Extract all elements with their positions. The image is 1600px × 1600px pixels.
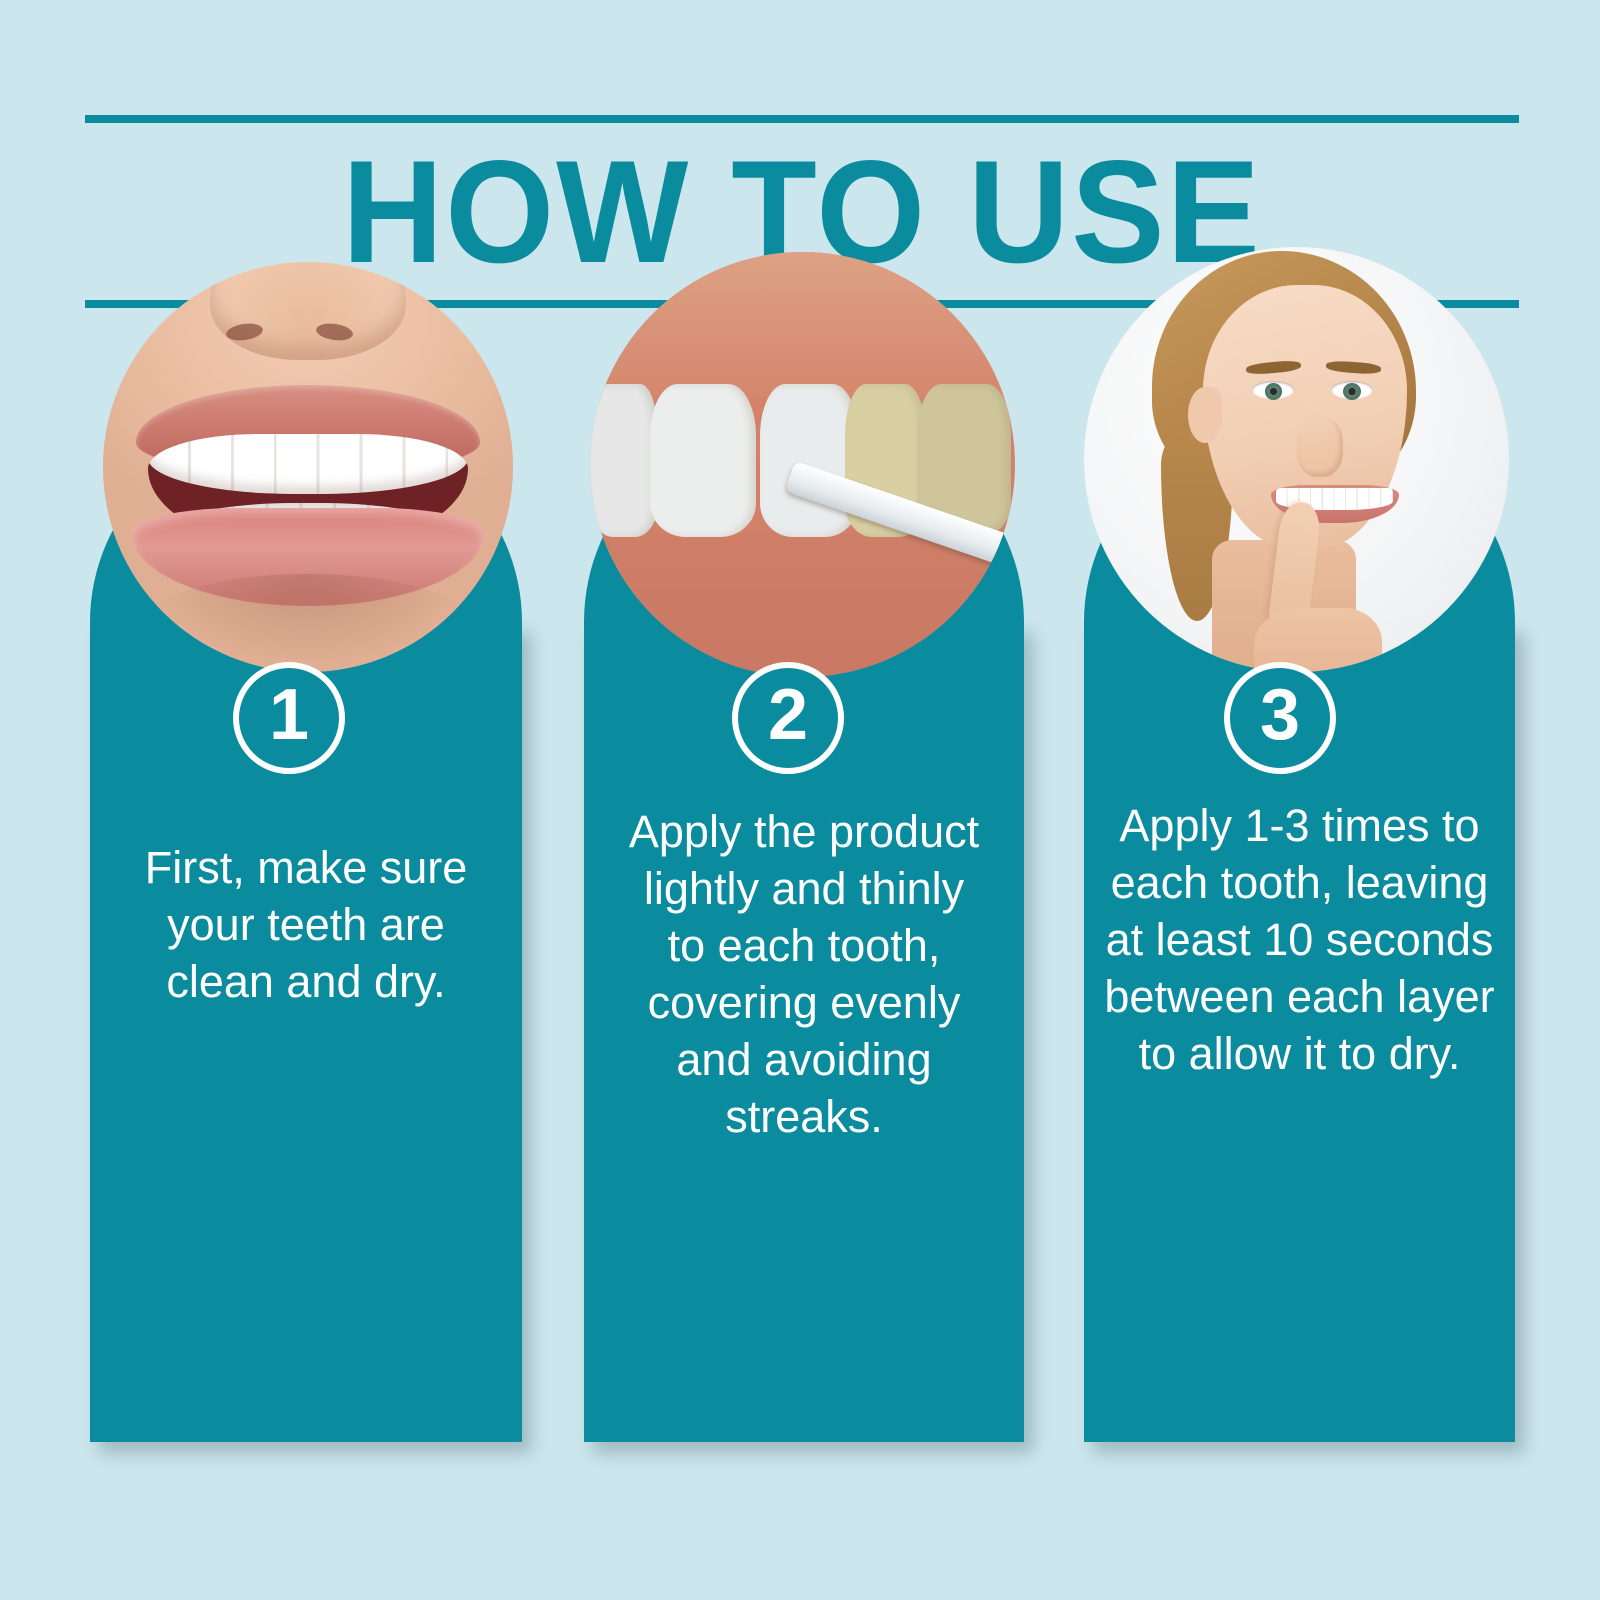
smiling-mouth-illustration [103, 262, 513, 672]
step-1-number: 1 [269, 679, 309, 751]
step-2-number-badge: 2 [732, 662, 844, 774]
step-3-number: 3 [1260, 679, 1300, 751]
woman-pointing-at-smile-illustration [1084, 247, 1509, 672]
step-2-photo [590, 252, 1015, 677]
step-1-caption: First, make sure your teeth are clean an… [90, 839, 522, 1010]
step-2-number: 2 [768, 679, 808, 751]
step-3-photo [1084, 247, 1509, 672]
steps-row: 1 First, make sure your teeth are clean … [0, 0, 1600, 1600]
step-1-number-badge: 1 [233, 662, 345, 774]
step-1-photo [103, 262, 513, 672]
step-2-caption: Apply the product lightly and thinly to … [584, 803, 1024, 1145]
applicator-on-teeth-illustration [590, 252, 1015, 677]
step-3-caption: Apply 1-3 times to each tooth, leaving a… [1084, 797, 1515, 1082]
step-3-number-badge: 3 [1224, 662, 1336, 774]
